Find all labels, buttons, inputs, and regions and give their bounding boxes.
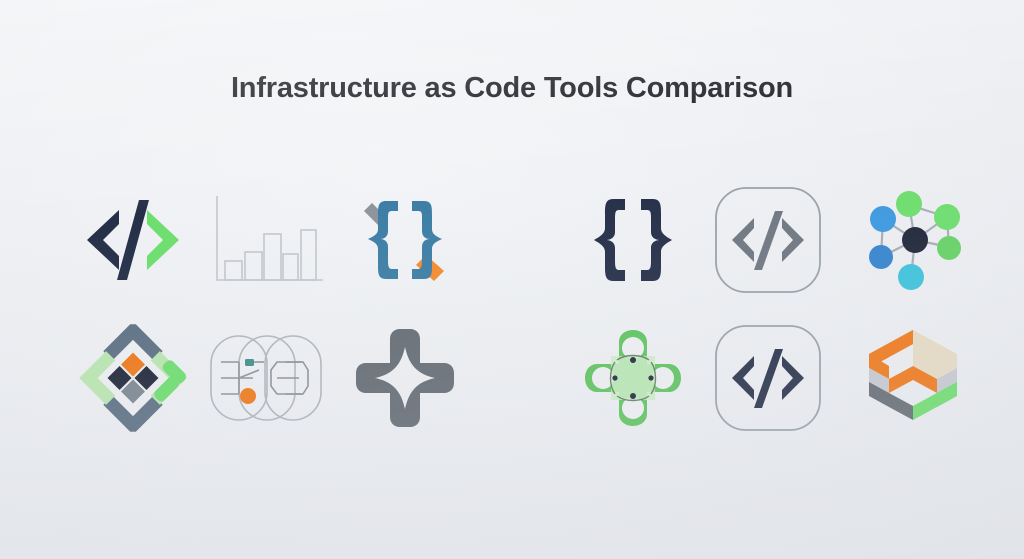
icon-grid	[0, 0, 1024, 559]
icon-venn-workflow-diagram	[203, 318, 333, 438]
icon-cross-star-cutout	[340, 318, 470, 438]
icon-curly-braces-navy	[568, 180, 698, 300]
icon-green-node-cluster	[568, 318, 698, 438]
slide-canvas: Infrastructure as Code Tools Comparison	[0, 0, 1024, 559]
icon-code-brackets-navy-green	[68, 180, 198, 300]
icon-diamond-tiles-logo	[68, 318, 198, 438]
icon-isometric-cube-logo	[848, 318, 978, 438]
icon-network-hub-nodes	[848, 180, 978, 300]
icon-curly-braces-blue-orange	[340, 180, 470, 300]
icon-code-badge-gray	[703, 180, 833, 300]
icon-bar-chart-outline	[203, 180, 333, 300]
icon-code-badge-navy	[703, 318, 833, 438]
